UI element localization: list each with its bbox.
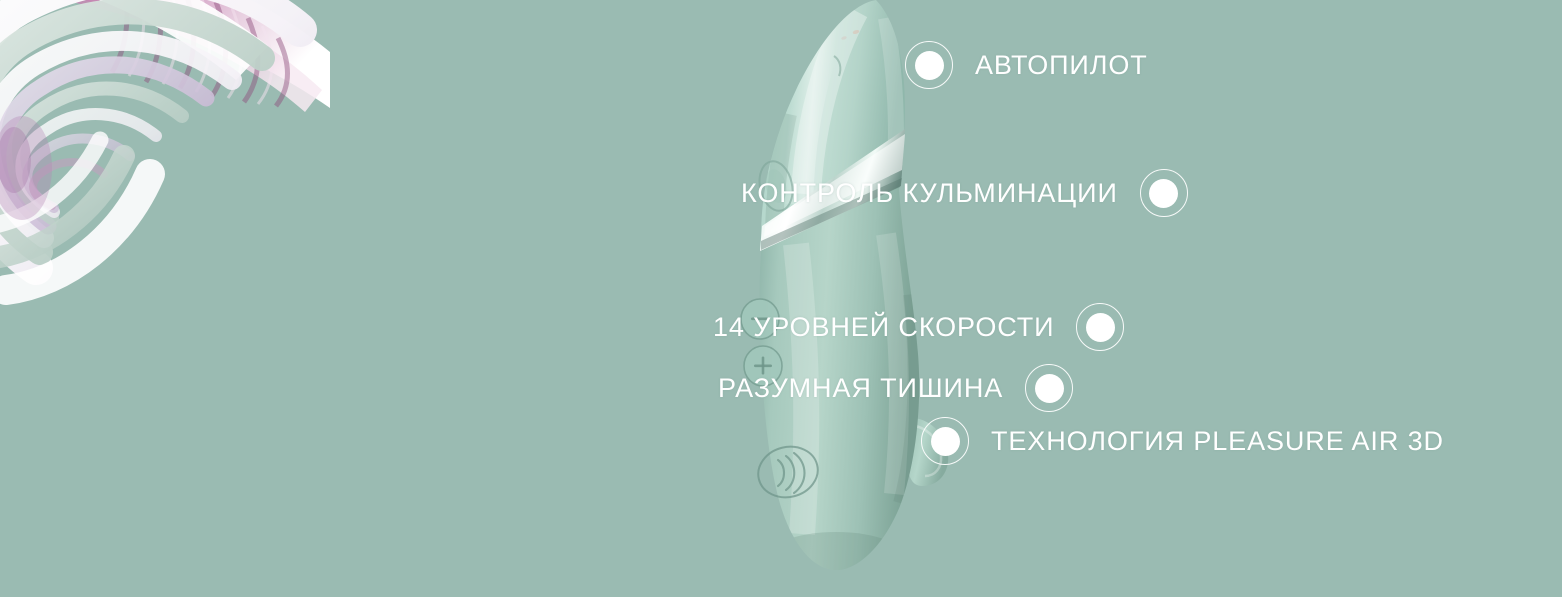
callout-climax-control[interactable]: КОНТРОЛЬ КУЛЬМИНАЦИИ (741, 169, 1188, 217)
callout-label-speed-levels: 14 УРОВНЕЙ СКОРОСТИ (713, 314, 1054, 341)
callout-marker-smart-silence[interactable] (1025, 364, 1073, 412)
callout-pleasure-air-3d[interactable]: ТЕХНОЛОГИЯ PLEASURE AIR 3D (921, 417, 1444, 465)
callout-marker-climax-control[interactable] (1140, 169, 1188, 217)
product-device-image (736, 0, 956, 594)
callout-smart-silence[interactable]: РАЗУМНАЯ ТИШИНА (718, 364, 1073, 412)
callout-autopilot[interactable]: АВТОПИЛОТ (905, 41, 1148, 89)
power-wave-button-shape (753, 440, 823, 503)
callout-speed-levels[interactable]: 14 УРОВНЕЙ СКОРОСТИ (713, 303, 1124, 351)
callout-label-smart-silence: РАЗУМНАЯ ТИШИНА (718, 375, 1003, 402)
product-feature-banner: АВТОПИЛОТ КОНТРОЛЬ КУЛЬМИНАЦИИ 14 УРОВНЕ… (0, 0, 1562, 597)
spiral-decoration (0, 0, 330, 315)
callout-marker-autopilot[interactable] (905, 41, 953, 89)
callout-label-autopilot: АВТОПИЛОТ (975, 52, 1148, 79)
callout-label-pleasure-air-3d: ТЕХНОЛОГИЯ PLEASURE AIR 3D (991, 428, 1444, 455)
callout-label-climax-control: КОНТРОЛЬ КУЛЬМИНАЦИИ (741, 180, 1118, 207)
callout-marker-pleasure-air-3d[interactable] (921, 417, 969, 465)
callout-marker-speed-levels[interactable] (1076, 303, 1124, 351)
